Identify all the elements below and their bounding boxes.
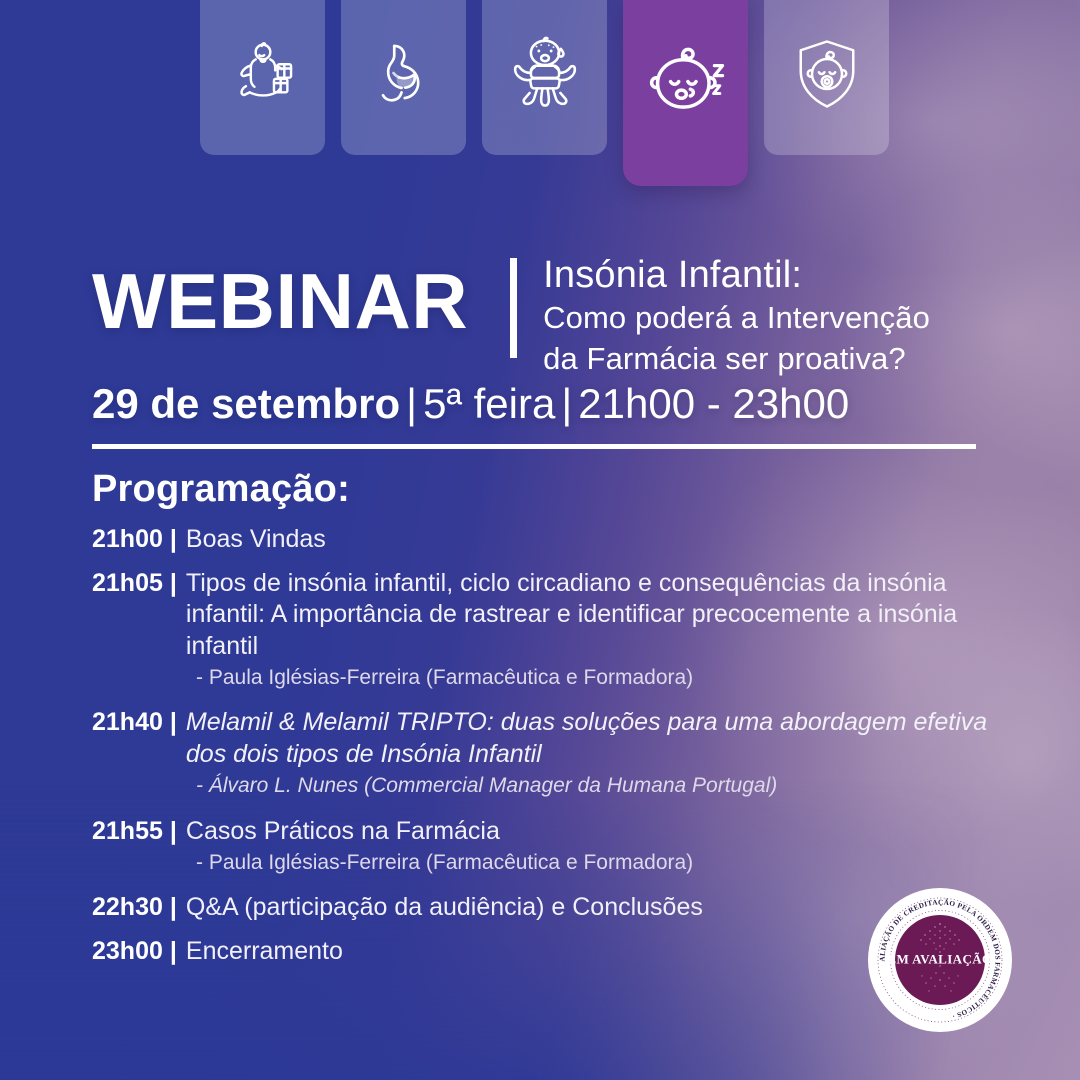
subtitle-block: Insónia Infantil: Como poderá a Interven… xyxy=(543,252,930,379)
agenda-item: 21h05 | Tipos de insónia infantil, ciclo… xyxy=(92,568,992,692)
tab-baby-development[interactable] xyxy=(200,0,325,155)
agenda-topic: Q&A (participação da audiência) e Conclu… xyxy=(186,892,703,924)
sleeping-baby-icon xyxy=(640,34,732,126)
dateline-separator-1: | xyxy=(400,380,423,427)
accreditation-seal: · ATIVIDADE EM AVALIAÇÃO DE CREDITAÇÃO P… xyxy=(866,886,1014,1034)
agenda-item: 22h30 | Q&A (participação da audiência) … xyxy=(92,892,992,924)
baby-with-blocks-icon xyxy=(224,35,302,113)
agenda-item: 21h55 | Casos Práticos na Farmácia - Pau… xyxy=(92,816,992,877)
agenda-time: 22h30 xyxy=(92,893,163,922)
headline-block: WEBINAR Insónia Infantil: Como poderá a … xyxy=(92,252,930,379)
agenda-pipe: | xyxy=(163,525,186,554)
agenda-topic: Casos Práticos na Farmácia xyxy=(186,816,500,848)
subtitle-line-3: da Farmácia ser proativa? xyxy=(543,339,930,379)
agenda-item: 21h40 | Melamil & Melamil TRIPTO: duas s… xyxy=(92,707,992,799)
tab-infant-protection[interactable] xyxy=(764,0,889,155)
event-time-range: 21h00 - 23h00 xyxy=(578,380,849,427)
dateline-separator-2: | xyxy=(555,380,578,427)
webinar-poster: WEBINAR Insónia Infantil: Como poderá a … xyxy=(0,0,1080,1080)
tab-digestive-health[interactable] xyxy=(341,0,466,155)
tab-infant-sleep[interactable] xyxy=(623,0,748,186)
event-weekday: 5ª feira xyxy=(423,380,555,427)
agenda-topic: Melamil & Melamil TRIPTO: duas soluções … xyxy=(186,707,992,770)
agenda-item: 21h00 | Boas Vindas xyxy=(92,524,992,556)
subtitle-line-2: Como poderá a Intervenção xyxy=(543,298,930,338)
horizontal-rule xyxy=(92,444,976,449)
agenda-pipe: | xyxy=(163,817,186,846)
agenda-time: 21h00 xyxy=(92,525,163,554)
crying-baby-icon xyxy=(504,33,586,115)
seal-center-text: EM AVALIAÇÃO xyxy=(887,952,992,967)
event-date: 29 de setembro xyxy=(92,380,400,427)
agenda-topic: Encerramento xyxy=(186,936,343,968)
topic-tab-strip xyxy=(200,0,889,186)
shield-baby-icon xyxy=(787,34,867,114)
agenda-speaker: - Paula Iglésias-Ferreira (Farmacêutica … xyxy=(196,850,992,876)
agenda-speaker: - Paula Iglésias-Ferreira (Farmacêutica … xyxy=(196,665,992,691)
agenda-time: 21h55 xyxy=(92,817,163,846)
agenda-topic: Tipos de insónia infantil, ciclo circadi… xyxy=(186,568,992,663)
agenda-time: 23h00 xyxy=(92,937,163,966)
stomach-icon xyxy=(365,35,443,113)
event-dateline: 29 de setembro|5ª feira|21h00 - 23h00 xyxy=(92,380,849,428)
agenda-pipe: | xyxy=(163,569,186,598)
agenda-speaker: - Álvaro L. Nunes (Commercial Manager da… xyxy=(196,773,992,799)
agenda-pipe: | xyxy=(163,937,186,966)
title-divider xyxy=(510,258,517,358)
page-title: WEBINAR xyxy=(92,264,468,338)
subtitle-line-1: Insónia Infantil: xyxy=(543,252,930,298)
tab-infant-discomfort[interactable] xyxy=(482,0,607,155)
agenda-pipe: | xyxy=(163,708,186,737)
programme-list: 21h00 | Boas Vindas 21h05 | Tipos de ins… xyxy=(92,524,992,979)
agenda-item: 23h00 | Encerramento xyxy=(92,936,992,968)
agenda-topic: Boas Vindas xyxy=(186,524,326,556)
programme-heading: Programação: xyxy=(92,468,350,511)
agenda-time: 21h05 xyxy=(92,569,163,598)
agenda-pipe: | xyxy=(163,893,186,922)
agenda-time: 21h40 xyxy=(92,708,163,737)
